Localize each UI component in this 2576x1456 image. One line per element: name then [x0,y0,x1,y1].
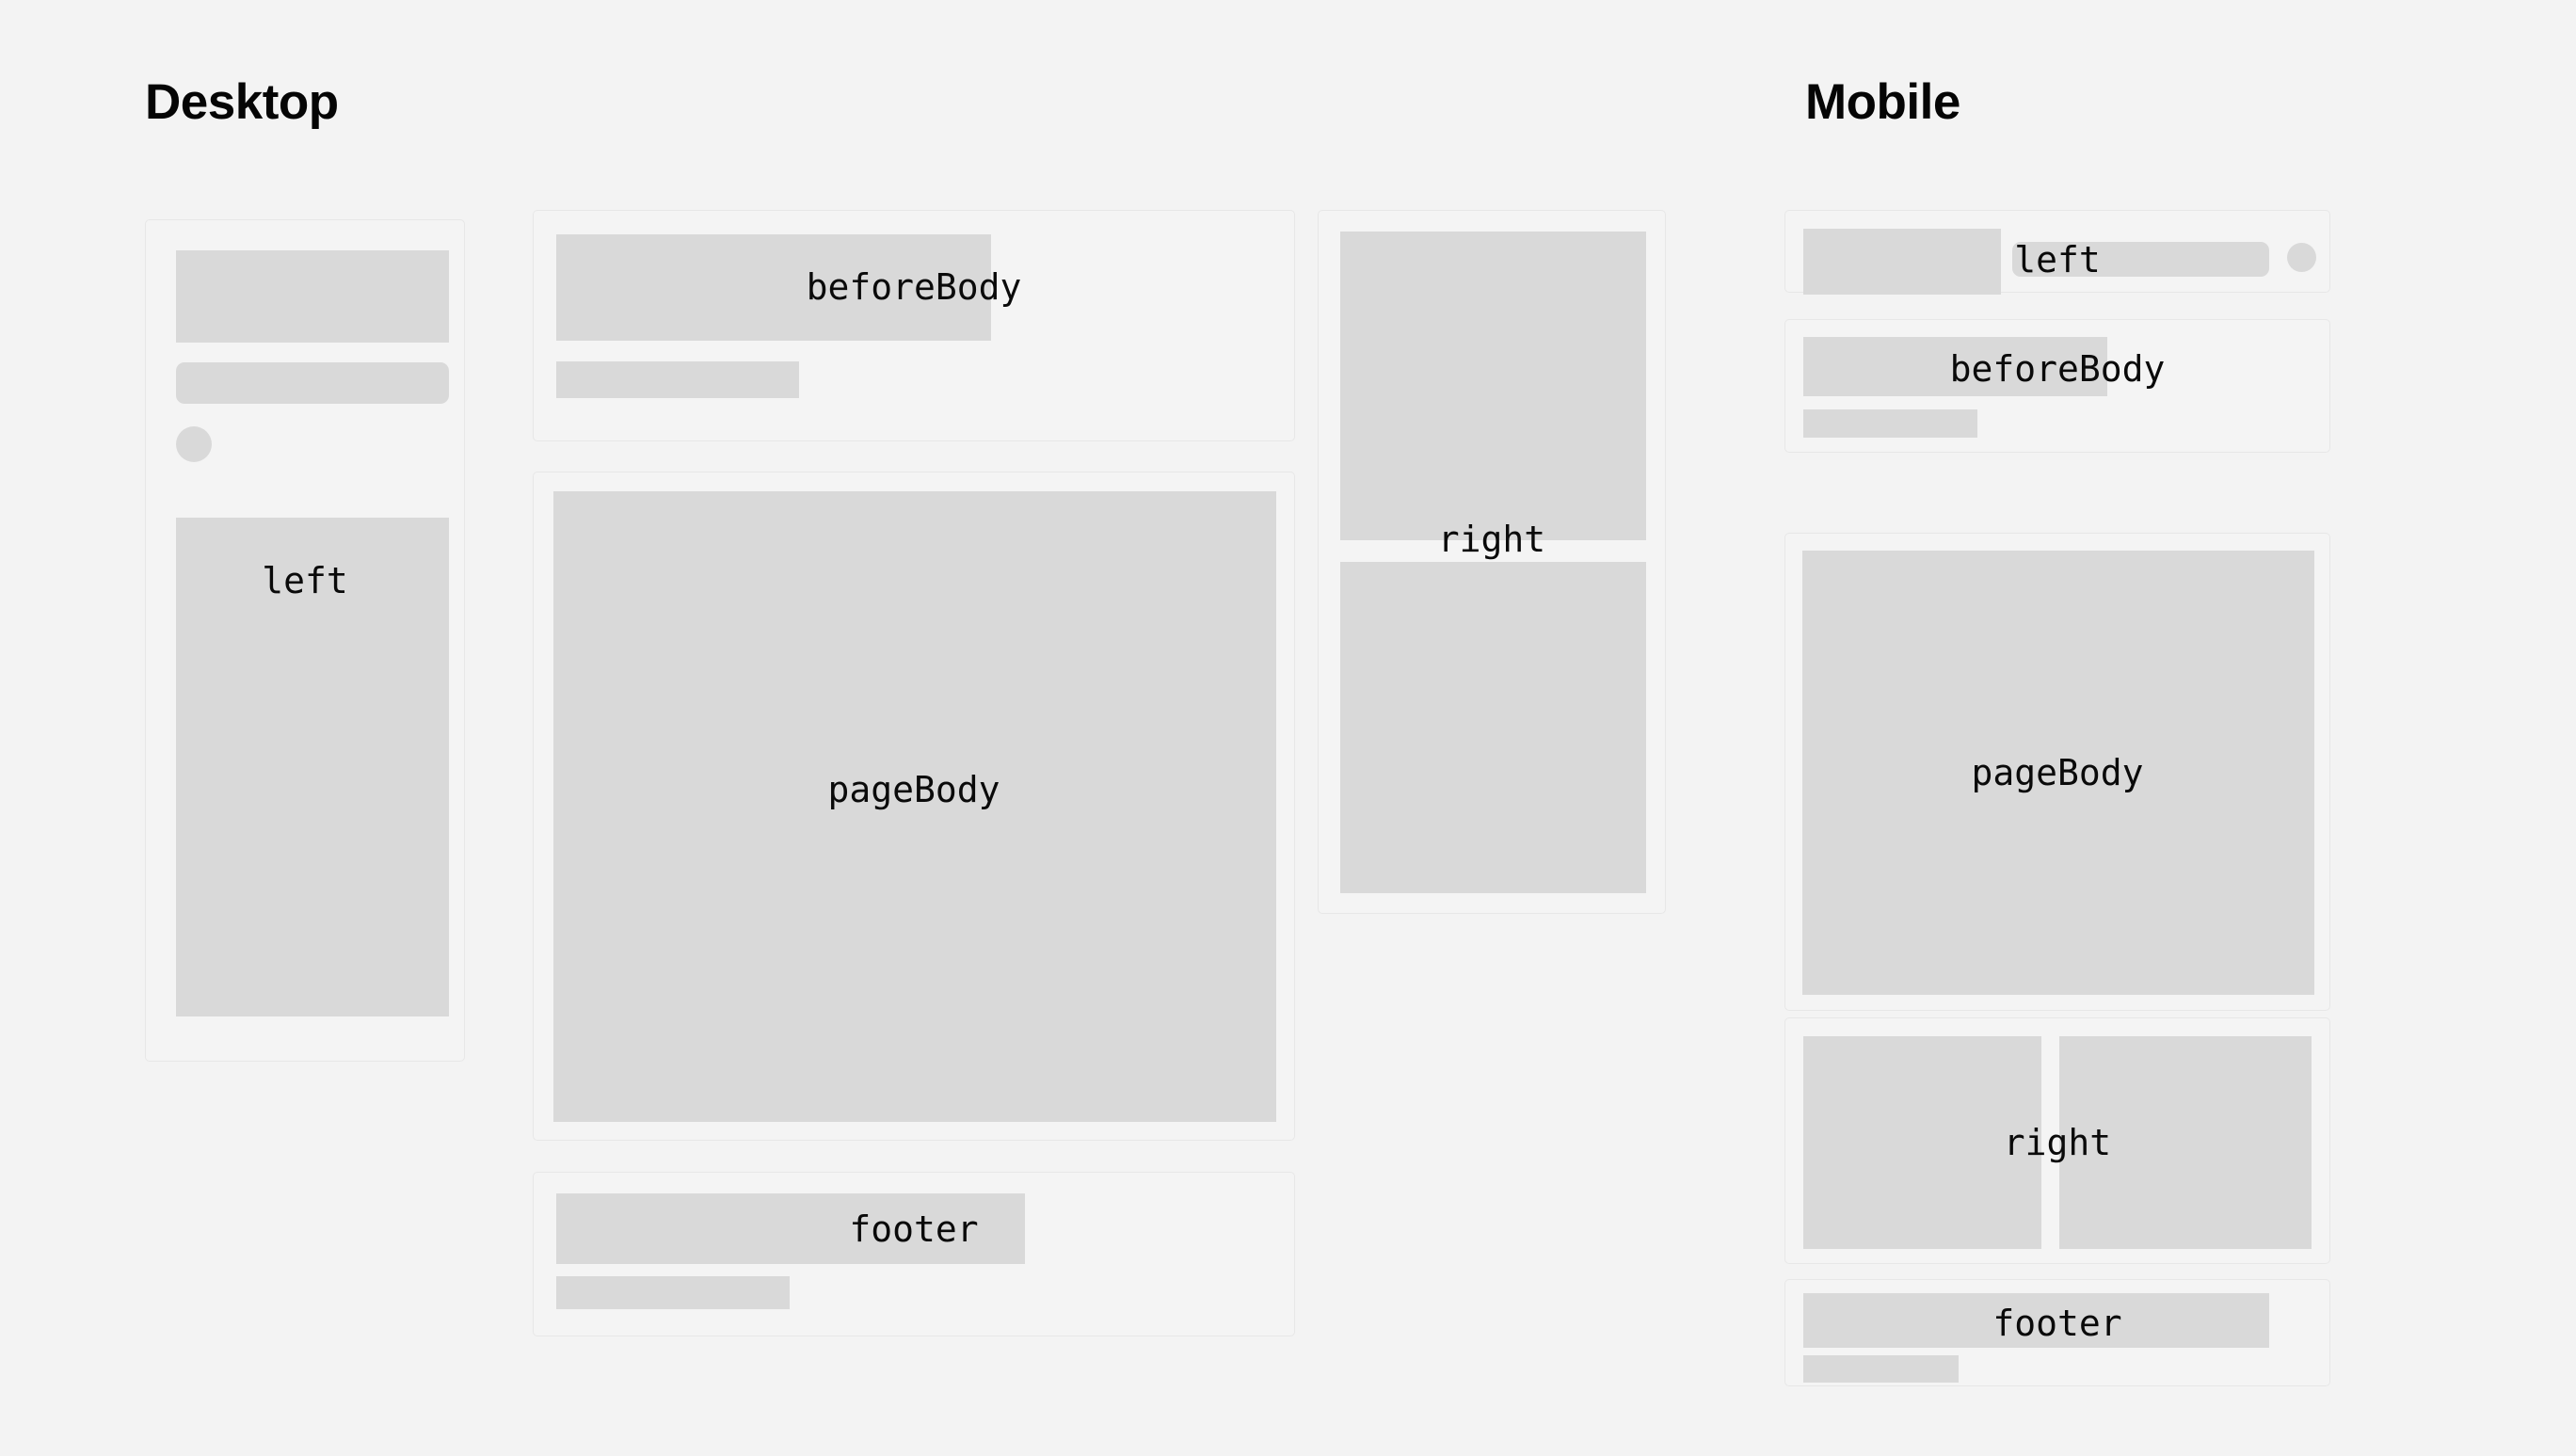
skeleton-block-header [1803,229,2001,295]
skeleton-block-main [553,491,1276,1122]
skeleton-block-wide [1803,1293,2269,1348]
skeleton-block-small [1803,1355,1959,1383]
skeleton-block-top [1340,232,1646,540]
skeleton-avatar-circle [176,426,212,462]
desktop-slot-footer-card[interactable]: footer [533,1172,1295,1336]
skeleton-block-wide [556,234,991,341]
skeleton-block-small [556,361,799,398]
mobile-slot-beforebody-card[interactable]: beforeBody [1784,319,2330,453]
skeleton-block-header [176,250,449,343]
skeleton-block-bottom [1340,562,1646,893]
skeleton-block-body [176,518,449,1016]
skeleton-bar-secondary [176,362,449,404]
desktop-section-title: Desktop [145,77,339,127]
layout-preview-stage: Desktop left beforeBody pageBody footer … [0,0,2576,1456]
mobile-section-title: Mobile [1805,77,1960,127]
skeleton-block-small [1803,409,1977,438]
desktop-slot-pagebody-card[interactable]: pageBody [533,472,1295,1141]
skeleton-block-right-column [2059,1036,2312,1249]
mobile-slot-footer-card[interactable]: footer [1784,1279,2330,1386]
mobile-slot-right-card[interactable]: right [1784,1017,2330,1264]
skeleton-bar-secondary [2012,242,2269,277]
desktop-slot-beforebody-card[interactable]: beforeBody [533,210,1295,441]
skeleton-block-left-column [1803,1036,2041,1249]
skeleton-block-small [556,1276,790,1309]
skeleton-block-wide [1803,337,2107,396]
skeleton-avatar-circle [2287,243,2316,272]
skeleton-block-main [1802,551,2314,995]
mobile-slot-pagebody-card[interactable]: pageBody [1784,533,2330,1011]
skeleton-block-wide [556,1193,1025,1264]
mobile-slot-left-card[interactable]: left [1784,210,2330,293]
desktop-slot-right-card[interactable]: right [1318,210,1666,914]
desktop-slot-left-card[interactable]: left [145,219,465,1062]
